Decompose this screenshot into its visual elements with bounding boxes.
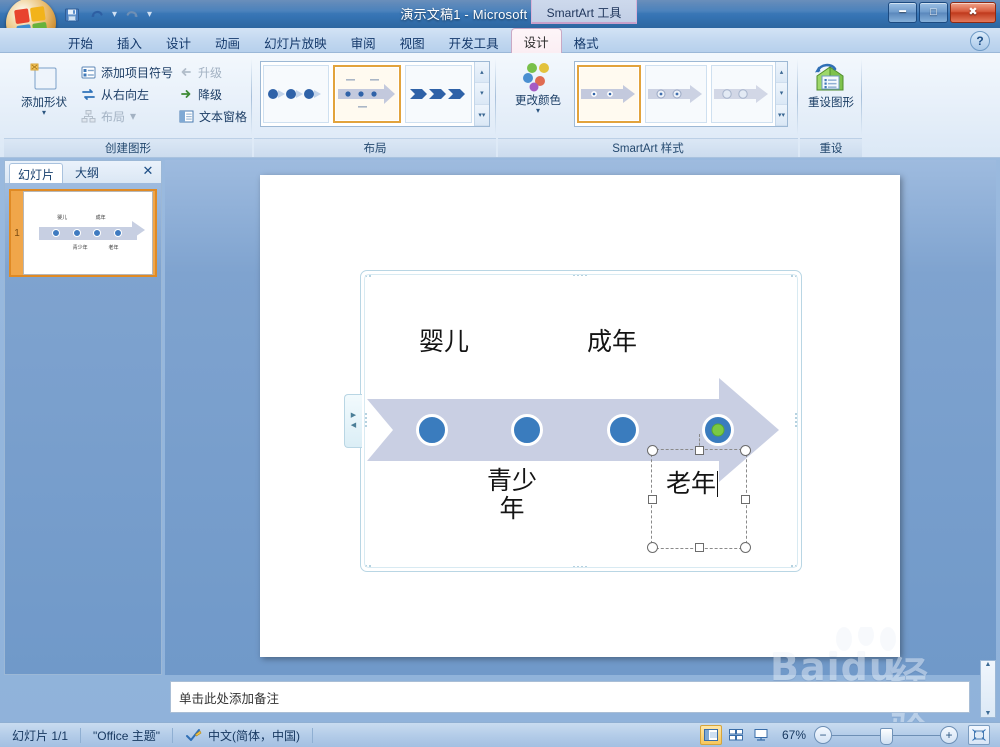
tab-animations[interactable]: 动画	[203, 32, 252, 53]
add-shape-caret[interactable]: ▾	[42, 110, 46, 116]
promote-icon	[179, 65, 193, 79]
thumb-node	[73, 229, 81, 237]
smartart-node-4[interactable]	[702, 414, 734, 446]
smartart-label-adult[interactable]: 成年	[557, 328, 667, 356]
add-bullet-button[interactable]: 添加项目符号	[78, 61, 176, 83]
style-more-button[interactable]: ▾▾	[776, 105, 787, 126]
customize-qat-caret[interactable]: ▾	[147, 9, 152, 20]
add-bullet-label: 添加项目符号	[101, 64, 173, 81]
layout-thumb-1[interactable]	[263, 65, 329, 123]
frame-corner-dots	[791, 565, 797, 567]
tab-smartart-design[interactable]: 设计	[511, 28, 562, 53]
smartart-style-gallery[interactable]: ▴ ▾ ▾▾	[574, 61, 788, 127]
chevron-right-icon: ▶	[351, 413, 356, 419]
slide-thumbnail-image: 婴儿 成年 青少年 老年	[23, 191, 153, 275]
resize-handle-nw[interactable]	[647, 445, 658, 456]
style-scroll-down-button[interactable]: ▾	[776, 83, 787, 104]
frame-edge-dots	[573, 566, 587, 568]
pane-tab-outline[interactable]: 大纲	[67, 163, 107, 182]
theme-name[interactable]: "Office 主题"	[81, 727, 172, 744]
rtl-icon	[81, 87, 96, 102]
resize-handle-sw[interactable]	[647, 542, 658, 553]
thumb-node	[52, 229, 60, 237]
layout-gallery[interactable]: ▴ ▾ ▾▾	[260, 61, 490, 127]
frame-corner-dots	[365, 275, 371, 277]
ribbon-group-create-graphic: 添加形状 ▾ 添加项目符号 从右向左 布局 ▾	[4, 53, 252, 157]
layout-scroll-up-button[interactable]: ▴	[475, 62, 489, 83]
group-label-reset: 重设	[800, 140, 862, 156]
ribbon-group-smartart-styles: 更改颜色 ▾	[498, 53, 798, 157]
slide-thumbnail-1[interactable]: 1 婴儿 成年 青少年 老年	[9, 189, 157, 277]
zoom-track[interactable]	[832, 735, 940, 736]
layout-more-button[interactable]: ▾▾	[475, 105, 489, 126]
notes-placeholder[interactable]: 单击此处添加备注	[170, 681, 970, 713]
slide-canvas[interactable]: ▶ ◀ 婴儿 成年 青少年	[260, 175, 900, 657]
maximize-button[interactable]: □	[919, 2, 948, 23]
add-shape-button[interactable]: 添加形状 ▾	[12, 61, 76, 116]
layout-button: 布局 ▾	[78, 105, 176, 127]
contextual-tool-label: SmartArt 工具	[532, 4, 636, 21]
help-icon[interactable]: ?	[970, 31, 990, 51]
ribbon-tab-strip: 开始 插入 设计 动画 幻灯片放映 审阅 视图 开发工具 设计 格式 ?	[0, 28, 1000, 53]
spellcheck-status[interactable]: 中文(简体，中国)	[173, 727, 312, 744]
layout-gallery-scroll[interactable]: ▴ ▾ ▾▾	[474, 62, 489, 126]
text-pane-button[interactable]: 文本窗格	[176, 105, 250, 127]
language-label: 中文(简体，中国)	[208, 727, 300, 744]
frame-edge-dots	[573, 274, 587, 276]
resize-handle-w[interactable]	[648, 495, 657, 504]
redo-icon[interactable]	[122, 5, 142, 24]
frame-corner-dots	[791, 275, 797, 277]
minimize-button[interactable]: ━	[888, 2, 917, 23]
tab-slideshow[interactable]: 幻灯片放映	[252, 32, 339, 53]
ribbon-tabs: 开始 插入 设计 动画 幻灯片放映 审阅 视图 开发工具 设计 格式	[56, 28, 611, 53]
smartart-label-infant[interactable]: 婴儿	[389, 328, 499, 356]
notes-scrollbar[interactable]: ▲ ▼	[980, 660, 996, 718]
change-colors-button[interactable]: 更改颜色 ▾	[506, 61, 570, 114]
add-shape-icon	[27, 61, 61, 95]
demote-button[interactable]: 降级	[176, 83, 250, 105]
textbox-value: 老年	[666, 469, 716, 498]
resize-handle-e[interactable]	[741, 495, 750, 504]
resize-handle-se[interactable]	[740, 542, 751, 553]
thumb-label-1: 婴儿	[57, 214, 67, 221]
change-colors-icon	[520, 61, 556, 93]
layout-label: 布局	[101, 108, 125, 125]
zoom-out-button[interactable]: −	[814, 726, 832, 744]
thumb-label-4: 老年	[108, 244, 118, 251]
smartart-node-1[interactable]	[416, 414, 448, 446]
style-scroll-up-button[interactable]: ▴	[776, 62, 787, 83]
bullet-icon	[81, 65, 96, 80]
thumb-label-2: 成年	[96, 214, 106, 221]
tab-view[interactable]: 视图	[388, 32, 437, 53]
tab-insert[interactable]: 插入	[105, 32, 154, 53]
tab-smartart-format[interactable]: 格式	[562, 32, 611, 53]
close-pane-icon[interactable]: ✕	[141, 164, 155, 178]
smartart-label-teen[interactable]: 青少年	[469, 467, 555, 523]
frame-edge-dots	[795, 413, 797, 427]
tab-developer[interactable]: 开发工具	[437, 32, 511, 53]
scroll-up-icon[interactable]: ▲	[985, 661, 992, 668]
group-label-smartart-styles: SmartArt 样式	[498, 140, 798, 156]
arrow-tail-notch	[367, 399, 393, 461]
right-to-left-label: 从右向左	[101, 86, 149, 103]
fit-icon	[972, 729, 986, 741]
slide-sorter-button[interactable]	[725, 725, 747, 745]
promote-label: 升级	[198, 64, 222, 81]
quick-access-toolbar: ▾ ▾	[62, 5, 152, 24]
group-label-layouts: 布局	[254, 140, 496, 156]
thumb-label-3: 青少年	[73, 244, 88, 251]
layout-icon	[81, 109, 96, 124]
window-buttons: ━ □ ✖	[888, 2, 996, 23]
zoom-in-button[interactable]: +	[940, 726, 958, 744]
resize-handle-ne[interactable]	[740, 445, 751, 456]
undo-icon[interactable]	[87, 5, 107, 24]
close-button[interactable]: ✖	[950, 2, 996, 23]
status-bar: 幻灯片 1/1 "Office 主题" 中文(简体，中国) 67%	[0, 722, 1000, 747]
style-thumb-1[interactable]	[577, 65, 641, 123]
tab-design[interactable]: 设计	[154, 32, 203, 53]
slide-number: 1	[11, 228, 23, 239]
layout-scroll-down-button[interactable]: ▾	[475, 83, 489, 104]
resize-handle-n[interactable]	[695, 446, 704, 455]
selected-textbox[interactable]: 老年	[651, 449, 747, 549]
slideshow-button[interactable]	[750, 725, 772, 745]
zoom-level[interactable]: 67%	[782, 727, 814, 744]
text-caret	[717, 471, 718, 497]
scroll-down-icon[interactable]: ▼	[985, 710, 992, 717]
layout-caret: ▾	[130, 109, 136, 123]
chevron-left-icon: ◀	[351, 423, 356, 429]
undo-dropdown-caret[interactable]: ▾	[112, 9, 117, 20]
slide-indicator[interactable]: 幻灯片 1/1	[0, 727, 80, 744]
reset-graphic-label: 重设图形	[808, 97, 854, 110]
thumb-node	[114, 229, 122, 237]
selected-textbox-text: 老年	[666, 464, 718, 500]
powerpoint-window: 演示文稿1 - Microsoft PowerPoint SmartArt 工具…	[0, 0, 1000, 747]
layout-thumb-2[interactable]	[333, 65, 401, 123]
smartart-node-2[interactable]	[511, 414, 543, 446]
contextual-tool-banner: SmartArt 工具	[531, 0, 637, 24]
ribbon-group-reset: 重设图形 重设	[800, 53, 862, 157]
promote-button: 升级	[176, 61, 250, 83]
slide-edit-area[interactable]: ▶ ◀ 婴儿 成年 青少年	[165, 160, 996, 675]
right-to-left-button[interactable]: 从右向左	[78, 83, 176, 105]
demote-label: 降级	[198, 86, 222, 103]
zoom-slider[interactable]: − +	[814, 726, 958, 744]
text-pane-label: 文本窗格	[199, 108, 247, 125]
reset-graphic-button[interactable]: 重设图形	[803, 61, 859, 110]
slides-list[interactable]: 1 婴儿 成年 青少年 老年	[5, 183, 161, 674]
ribbon-group-layouts: ▴ ▾ ▾▾ 布局	[254, 53, 496, 157]
frame-corner-dots	[365, 565, 371, 567]
tab-home[interactable]: 开始	[56, 32, 105, 53]
text-pane-toggle[interactable]: ▶ ◀	[344, 394, 362, 448]
slides-pane: 幻灯片 大纲 ✕ 1 婴儿 成年 青少年 老年	[4, 160, 162, 675]
ribbon: 添加形状 ▾ 添加项目符号 从右向左 布局 ▾	[0, 53, 1000, 158]
thumb-node	[93, 229, 101, 237]
view-buttons	[700, 725, 782, 745]
smartart-frame[interactable]: ▶ ◀ 婴儿 成年 青少年	[360, 270, 802, 572]
save-icon[interactable]	[62, 5, 82, 24]
spellcheck-icon	[185, 728, 202, 743]
tab-review[interactable]: 审阅	[339, 32, 388, 53]
group-label-create-graphic: 创建图形	[4, 140, 252, 156]
zoom-thumb[interactable]	[880, 728, 893, 745]
normal-view-button[interactable]	[700, 725, 722, 745]
reset-graphic-icon	[812, 61, 850, 95]
text-pane-icon	[179, 109, 194, 124]
resize-handle-s[interactable]	[695, 543, 704, 552]
fit-to-window-button[interactable]	[968, 725, 990, 745]
layout-thumb-3[interactable]	[405, 65, 471, 123]
change-colors-caret[interactable]: ▾	[536, 108, 540, 114]
demote-icon	[179, 87, 193, 101]
style-gallery-scroll[interactable]: ▴ ▾ ▾▾	[775, 62, 787, 126]
thumb-arrow-head	[132, 221, 145, 239]
pane-tab-slides[interactable]: 幻灯片	[9, 163, 63, 185]
slides-pane-tabs: 幻灯片 大纲 ✕	[5, 161, 161, 184]
smartart-node-3[interactable]	[607, 414, 639, 446]
selected-node-marker	[712, 424, 725, 437]
style-thumb-3[interactable]	[711, 65, 773, 123]
style-thumb-2[interactable]	[645, 65, 707, 123]
